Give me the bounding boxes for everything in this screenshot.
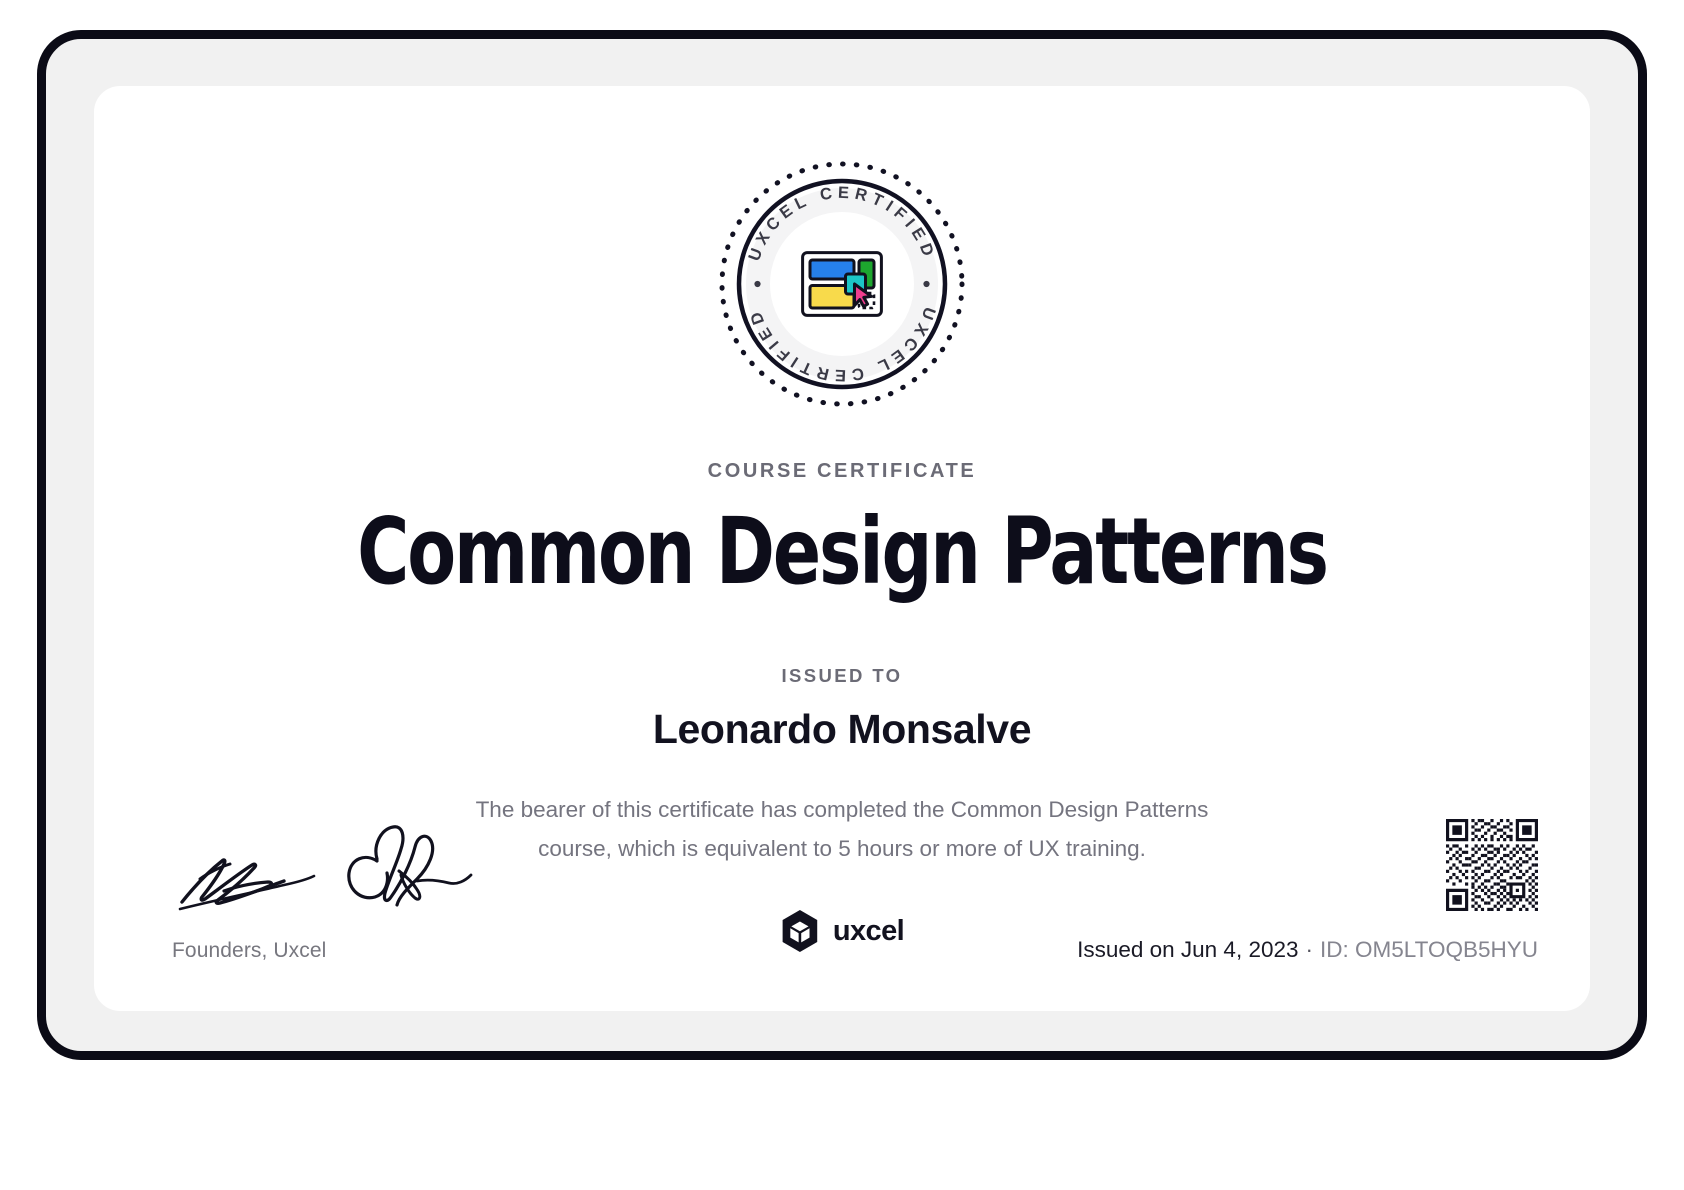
ui-layout-cursor-icon — [801, 251, 883, 317]
certificate-meta: Issued on Jun 4, 2023·ID: OM5LTOQB5HYU — [1077, 819, 1538, 963]
brand-name: uxcel — [833, 915, 904, 948]
certificate-id-label: ID: — [1320, 937, 1349, 962]
founders-label: Founders, Uxcel — [172, 939, 512, 963]
certificate-id-value: OM5LTOQB5HYU — [1355, 937, 1538, 962]
page-title: Common Design Patterns — [199, 504, 1486, 601]
certificate-card: UXCEL CERTIFIED UXCEL CERTIFIED — [94, 86, 1590, 1011]
uxcel-cube-logo — [780, 909, 820, 953]
course-certificate-kicker: COURSE CERTIFICATE — [94, 460, 1590, 483]
issued-meta-line: Issued on Jun 4, 2023·ID: OM5LTOQB5HYU — [1077, 937, 1538, 963]
signature-two — [343, 819, 478, 919]
issued-on-text: Issued on Jun 4, 2023 — [1077, 937, 1298, 962]
signature-one — [172, 839, 337, 919]
recipient-name: Leonardo Monsalve — [94, 706, 1590, 753]
meta-separator: · — [1299, 937, 1321, 962]
issued-to-label: ISSUED TO — [94, 665, 1590, 687]
certified-seal: UXCEL CERTIFIED UXCEL CERTIFIED — [716, 158, 968, 410]
certificate-qr-code[interactable] — [1446, 819, 1538, 911]
signature-block: Founders, Uxcel — [172, 827, 512, 963]
brand-block: uxcel — [780, 909, 904, 953]
certificate-frame: UXCEL CERTIFIED UXCEL CERTIFIED — [37, 30, 1647, 1060]
